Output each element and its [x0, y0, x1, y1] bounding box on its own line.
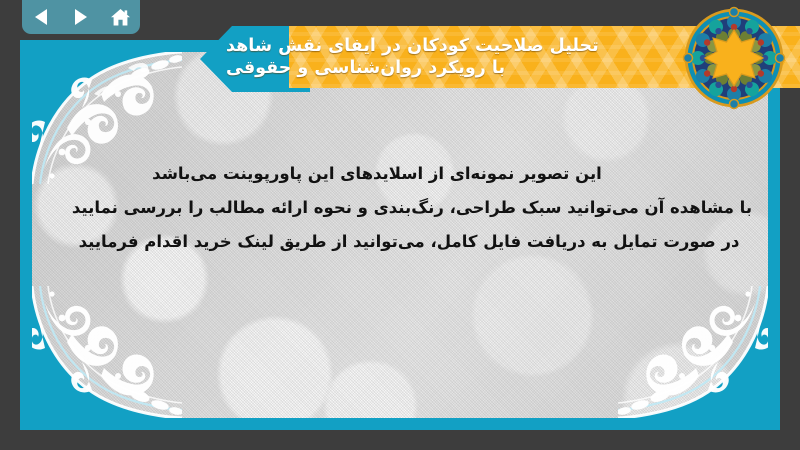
slide-navigation-bar	[22, 0, 140, 34]
islamic-medallion-icon	[682, 6, 786, 110]
slide-stage: این تصویر نمونه‌ای از اسلایدهای این پاور…	[0, 0, 800, 450]
arabesque-corner-icon-bottom-right	[618, 286, 768, 418]
home-icon	[110, 8, 131, 27]
body-line-3: در صورت تمایل به دریافت فایل کامل، می‌تو…	[62, 230, 762, 253]
left-triangle-icon	[33, 8, 50, 26]
home-button[interactable]	[107, 5, 133, 29]
slide-content-surface: این تصویر نمونه‌ای از اسلایدهای این پاور…	[32, 52, 768, 418]
slide-body-text: این تصویر نمونه‌ای از اسلایدهای این پاور…	[62, 162, 762, 253]
body-line-2: با مشاهده آن می‌توانید سبک طراحی، رنگ‌بن…	[62, 196, 762, 219]
right-triangle-icon	[72, 8, 89, 26]
previous-slide-button[interactable]	[29, 5, 55, 29]
slide-frame: این تصویر نمونه‌ای از اسلایدهای این پاور…	[20, 40, 780, 430]
arabesque-corner-icon-bottom-left	[32, 286, 182, 418]
next-slide-button[interactable]	[68, 5, 94, 29]
body-line-1: این تصویر نمونه‌ای از اسلایدهای این پاور…	[62, 162, 762, 185]
